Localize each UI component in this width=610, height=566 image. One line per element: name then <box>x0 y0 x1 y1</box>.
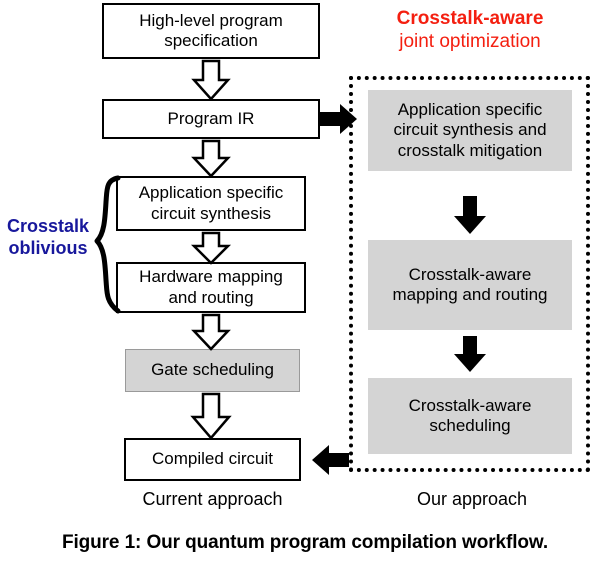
hollow-down-arrow-icon <box>194 233 228 263</box>
crosstalk-oblivious-brace <box>97 178 118 311</box>
figure-1-diagram: Crosstalk-aware joint optimization High-… <box>0 0 610 566</box>
title-line-1: Crosstalk-aware <box>352 8 588 31</box>
node-label-line-2: circuit synthesis and <box>393 120 546 140</box>
node-label-line-1: Program IR <box>168 109 255 129</box>
node-label-line-2: circuit synthesis <box>139 204 284 224</box>
figure-caption: Figure 1: Our quantum program compilatio… <box>0 532 610 554</box>
crosstalk-aware-joint-optimization-title: Crosstalk-aware joint optimization <box>352 8 588 54</box>
node-label-line-1: Crosstalk-aware <box>392 265 547 285</box>
node-label-line-1: Crosstalk-aware <box>409 396 532 416</box>
hollow-down-arrow-icon <box>194 61 228 99</box>
hollow-down-arrow-icon <box>193 394 229 438</box>
crosstalk-oblivious-label: Crosstalk oblivious <box>0 216 96 259</box>
hollow-down-arrow-icon <box>194 141 228 176</box>
node-label-line-1: Gate scheduling <box>151 360 274 380</box>
node-application-specific-circuit-synthesis[interactable]: Application specific circuit synthesis <box>116 176 306 231</box>
our-approach-label: Our approach <box>382 489 562 511</box>
node-crosstalk-aware-scheduling[interactable]: Crosstalk-aware scheduling <box>368 378 572 454</box>
node-hardware-mapping-and-routing[interactable]: Hardware mapping and routing <box>116 262 306 313</box>
current-approach-label: Current approach <box>105 489 320 511</box>
node-compiled-circuit[interactable]: Compiled circuit <box>124 438 301 481</box>
node-gate-scheduling[interactable]: Gate scheduling <box>125 349 300 392</box>
solid-left-arrow-icon <box>312 445 349 475</box>
hollow-down-arrow-icon <box>194 315 228 349</box>
node-label-line-2: specification <box>139 31 283 51</box>
node-program-ir[interactable]: Program IR <box>102 99 320 139</box>
node-label-line-1: High-level program <box>139 11 283 31</box>
node-label-line-1: Application specific <box>139 183 284 203</box>
crosstalk-oblivious-line-2: oblivious <box>0 238 96 260</box>
node-label-line-1: Compiled circuit <box>152 449 273 469</box>
node-label-line-3: crosstalk mitigation <box>393 141 546 161</box>
crosstalk-oblivious-line-1: Crosstalk <box>0 216 96 238</box>
node-label-line-2: and routing <box>139 288 283 308</box>
node-label-line-2: mapping and routing <box>392 285 547 305</box>
title-line-2: joint optimization <box>352 31 588 54</box>
node-high-level-program-specification[interactable]: High-level program specification <box>102 3 320 59</box>
node-application-specific-circuit-synthesis-and-crosstalk-mitigation[interactable]: Application specific circuit synthesis a… <box>368 90 572 171</box>
node-label-line-2: scheduling <box>409 416 532 436</box>
node-crosstalk-aware-mapping-and-routing[interactable]: Crosstalk-aware mapping and routing <box>368 240 572 330</box>
node-label-line-1: Application specific <box>393 100 546 120</box>
node-label-line-1: Hardware mapping <box>139 267 283 287</box>
